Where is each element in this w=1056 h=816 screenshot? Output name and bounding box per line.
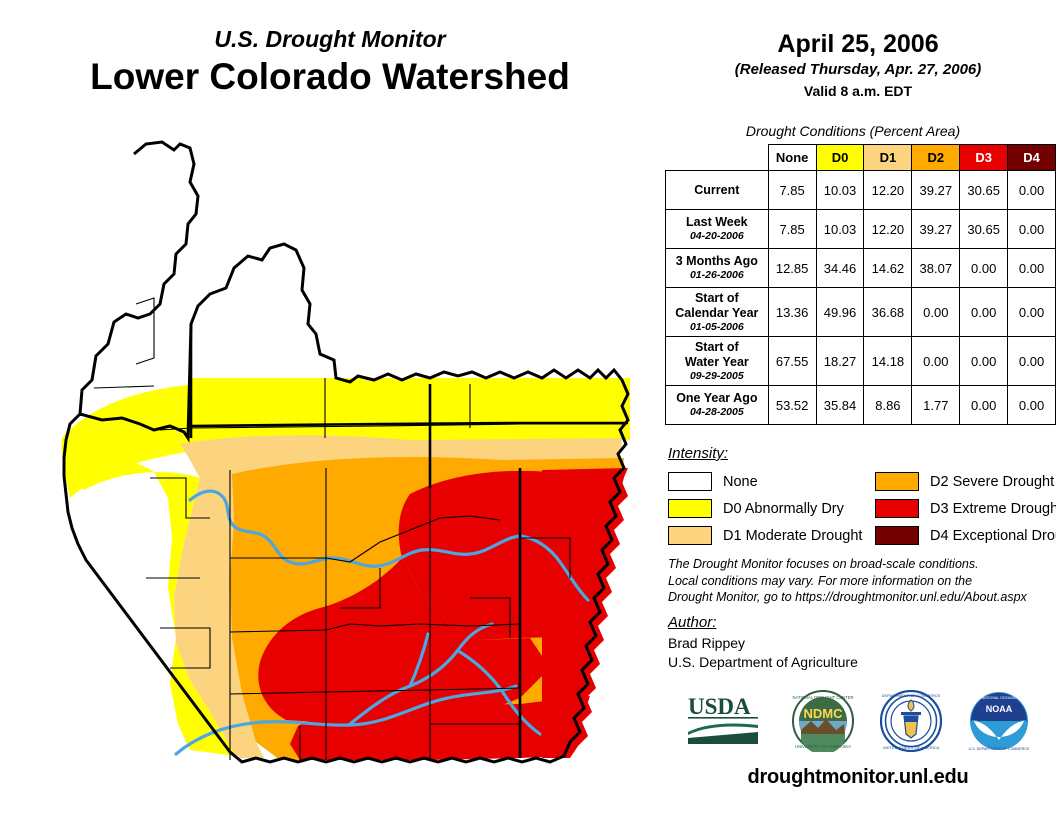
cell-current-d3: 30.65 (960, 171, 1008, 210)
legend-item-d2: D2 Severe Drought (875, 468, 1056, 495)
table-row: Last Week 04-20-2006 7.85 10.03 12.20 39… (666, 210, 1056, 249)
author-title: Author: (668, 614, 1048, 631)
map-drought-areas (62, 378, 630, 760)
legend-swatch-d2 (875, 472, 919, 491)
svg-text:DEPARTMENT OF COMMERCE: DEPARTMENT OF COMMERCE (882, 693, 941, 698)
county-line-20 (136, 298, 154, 364)
legend-swatch-none (668, 472, 712, 491)
svg-text:NATIONAL OCEANIC: NATIONAL OCEANIC (982, 696, 1017, 700)
legend-item-d1: D1 Moderate Drought (668, 522, 875, 549)
cell-wateryear-d2: 0.00 (912, 337, 960, 386)
legend-label-none: None (723, 474, 758, 490)
table-row: One Year Ago 04-28-2005 53.52 35.84 8.86… (666, 386, 1056, 425)
cell-wateryear-d1: 14.18 (864, 337, 912, 386)
disclaimer-line-1: The Drought Monitor focuses on broad-sca… (668, 556, 1048, 573)
intensity-legend: Intensity: None D2 Severe Drought D0 Abn… (668, 445, 1056, 549)
legend-label-d3: D3 Extreme Drought (930, 501, 1056, 517)
cell-wateryear-d4: 0.00 (1008, 337, 1056, 386)
legend-item-d0: D0 Abnormally Dry (668, 495, 875, 522)
table-row: 3 Months Ago 01-26-2006 12.85 34.46 14.6… (666, 249, 1056, 288)
svg-text:USDA: USDA (688, 694, 751, 719)
legend-label-d2: D2 Severe Drought (930, 474, 1054, 490)
cell-calyear-d2: 0.00 (912, 288, 960, 337)
cell-3months-d1: 14.62 (864, 249, 912, 288)
cell-lastweek-none: 7.85 (768, 210, 816, 249)
cell-wateryear-d3: 0.00 (960, 337, 1008, 386)
legend-swatch-d4 (875, 526, 919, 545)
disclaimer-text: The Drought Monitor focuses on broad-sca… (668, 556, 1048, 606)
cell-lastweek-d0: 10.03 (816, 210, 864, 249)
author-block: Author: Brad Rippey U.S. Department of A… (668, 614, 1048, 672)
column-header-d4: D4 (1008, 145, 1056, 171)
row-label-start-water-year: Start of Water Year 09-29-2005 (666, 337, 769, 386)
partner-logos: USDA NDMC NATIONAL DROUGHT CENTER UNIVER… (660, 688, 1056, 758)
info-panel: April 25, 2006 (Released Thursday, Apr. … (660, 0, 1056, 816)
legend-swatch-d3 (875, 499, 919, 518)
legend-swatch-d1 (668, 526, 712, 545)
svg-text:NDMC: NDMC (804, 706, 844, 721)
usdc-logo[interactable]: DEPARTMENT OF COMMERCE UNITED STATES OF … (880, 690, 942, 757)
cell-lastweek-d3: 30.65 (960, 210, 1008, 249)
row-label-date: 09-29-2005 (668, 370, 766, 383)
table-row: Start of Water Year 09-29-2005 67.55 18.… (666, 337, 1056, 386)
cell-calyear-d3: 0.00 (960, 288, 1008, 337)
cell-oneyear-d4: 0.00 (1008, 386, 1056, 425)
column-header-d2: D2 (912, 145, 960, 171)
row-label-one-year-ago: One Year Ago 04-28-2005 (666, 386, 769, 425)
usda-logo[interactable]: USDA (686, 692, 766, 755)
map-svg (50, 138, 650, 798)
cell-calyear-d0: 49.96 (816, 288, 864, 337)
column-header-d3: D3 (960, 145, 1008, 171)
row-label-current: Current (666, 171, 769, 210)
release-date: (Released Thursday, Apr. 27, 2006) (660, 60, 1056, 80)
map-area-d0-north (190, 378, 630, 440)
row-label-date: 01-05-2006 (668, 321, 766, 334)
cell-lastweek-d2: 39.27 (912, 210, 960, 249)
cell-oneyear-d2: 1.77 (912, 386, 960, 425)
legend-item-d4: D4 Exceptional Drought (875, 522, 1056, 549)
svg-text:U.S. DEPARTMENT OF COMMERCE: U.S. DEPARTMENT OF COMMERCE (969, 747, 1030, 751)
row-label-date: 01-26-2006 (668, 269, 766, 282)
svg-text:NATIONAL DROUGHT CENTER: NATIONAL DROUGHT CENTER (792, 695, 853, 700)
cell-current-d2: 39.27 (912, 171, 960, 210)
disclaimer-line-3: Drought Monitor, go to https://droughtmo… (668, 589, 1048, 606)
legend-item-d3: D3 Extreme Drought (875, 495, 1056, 522)
cell-3months-none: 12.85 (768, 249, 816, 288)
author-name: Brad Rippey (668, 634, 1048, 653)
row-label-text: Start of Calendar Year (675, 291, 758, 320)
row-label-text: 3 Months Ago (676, 254, 758, 268)
cell-current-d1: 12.20 (864, 171, 912, 210)
cell-3months-d2: 38.07 (912, 249, 960, 288)
title-block: U.S. Drought Monitor Lower Colorado Wate… (0, 26, 660, 99)
ndmc-logo[interactable]: NDMC NATIONAL DROUGHT CENTER UNIVERSITY … (792, 690, 854, 757)
cell-3months-d0: 34.46 (816, 249, 864, 288)
cell-lastweek-d4: 0.00 (1008, 210, 1056, 249)
cell-calyear-d4: 0.00 (1008, 288, 1056, 337)
cell-current-none: 7.85 (768, 171, 816, 210)
map-date: April 25, 2006 (660, 30, 1056, 59)
disclaimer-line-2: Local conditions may vary. For more info… (668, 573, 1048, 590)
legend-label-d1: D1 Moderate Drought (723, 528, 862, 544)
column-header-d0: D0 (816, 145, 864, 171)
cell-oneyear-none: 53.52 (768, 386, 816, 425)
cell-calyear-none: 13.36 (768, 288, 816, 337)
cell-3months-d4: 0.00 (1008, 249, 1056, 288)
cell-3months-d3: 0.00 (960, 249, 1008, 288)
table-row: Current 7.85 10.03 12.20 39.27 30.65 0.0… (666, 171, 1056, 210)
noaa-logo[interactable]: NOAA NATIONAL OCEANIC U.S. DEPARTMENT OF… (968, 690, 1030, 757)
row-label-date: 04-28-2005 (668, 406, 766, 419)
cell-current-d4: 0.00 (1008, 171, 1056, 210)
table-caption: Drought Conditions (Percent Area) (660, 123, 1046, 139)
county-line-21 (94, 386, 154, 388)
cell-wateryear-d0: 18.27 (816, 337, 864, 386)
column-header-none: None (768, 145, 816, 171)
drought-map[interactable] (50, 138, 650, 798)
cell-oneyear-d3: 0.00 (960, 386, 1008, 425)
cell-oneyear-d1: 8.86 (864, 386, 912, 425)
legend-label-d4: D4 Exceptional Drought (930, 528, 1056, 544)
author-agency: U.S. Department of Agriculture (668, 653, 1048, 672)
cell-wateryear-none: 67.55 (768, 337, 816, 386)
table-row: Start of Calendar Year 01-05-2006 13.36 … (666, 288, 1056, 337)
legend-swatch-d0 (668, 499, 712, 518)
row-label-text: One Year Ago (676, 391, 757, 405)
drought-monitor-kicker: U.S. Drought Monitor (0, 26, 660, 53)
svg-text:UNIVERSITY OF NEBRASKA: UNIVERSITY OF NEBRASKA (795, 744, 851, 749)
row-label-date: 04-20-2006 (668, 230, 766, 243)
row-label-last-week: Last Week 04-20-2006 (666, 210, 769, 249)
drought-conditions-table: None D0 D1 D2 D3 D4 Current 7.85 10.03 1… (665, 144, 1056, 425)
date-block: April 25, 2006 (Released Thursday, Apr. … (660, 30, 1056, 101)
legend-label-d0: D0 Abnormally Dry (723, 501, 844, 517)
row-label-text: Start of Water Year (685, 340, 749, 369)
cell-lastweek-d1: 12.20 (864, 210, 912, 249)
table-corner-cell (666, 145, 769, 171)
cell-oneyear-d0: 35.84 (816, 386, 864, 425)
table-header-row: None D0 D1 D2 D3 D4 (666, 145, 1056, 171)
legend-title: Intensity: (668, 445, 1056, 462)
svg-text:UNITED STATES OF AMERICA: UNITED STATES OF AMERICA (883, 745, 940, 750)
cell-current-d0: 10.03 (816, 171, 864, 210)
row-label-start-calendar-year: Start of Calendar Year 01-05-2006 (666, 288, 769, 337)
row-label-text: Current (694, 183, 739, 197)
cell-calyear-d1: 36.68 (864, 288, 912, 337)
svg-text:NOAA: NOAA (986, 704, 1013, 714)
column-header-d1: D1 (864, 145, 912, 171)
valid-time: Valid 8 a.m. EDT (660, 82, 1056, 101)
map-panel: U.S. Drought Monitor Lower Colorado Wate… (0, 0, 660, 816)
page-title: Lower Colorado Watershed (0, 55, 660, 99)
row-label-text: Last Week (686, 215, 748, 229)
row-label-3-months-ago: 3 Months Ago 01-26-2006 (666, 249, 769, 288)
legend-item-none: None (668, 468, 875, 495)
site-url[interactable]: droughtmonitor.unl.edu (660, 766, 1056, 789)
